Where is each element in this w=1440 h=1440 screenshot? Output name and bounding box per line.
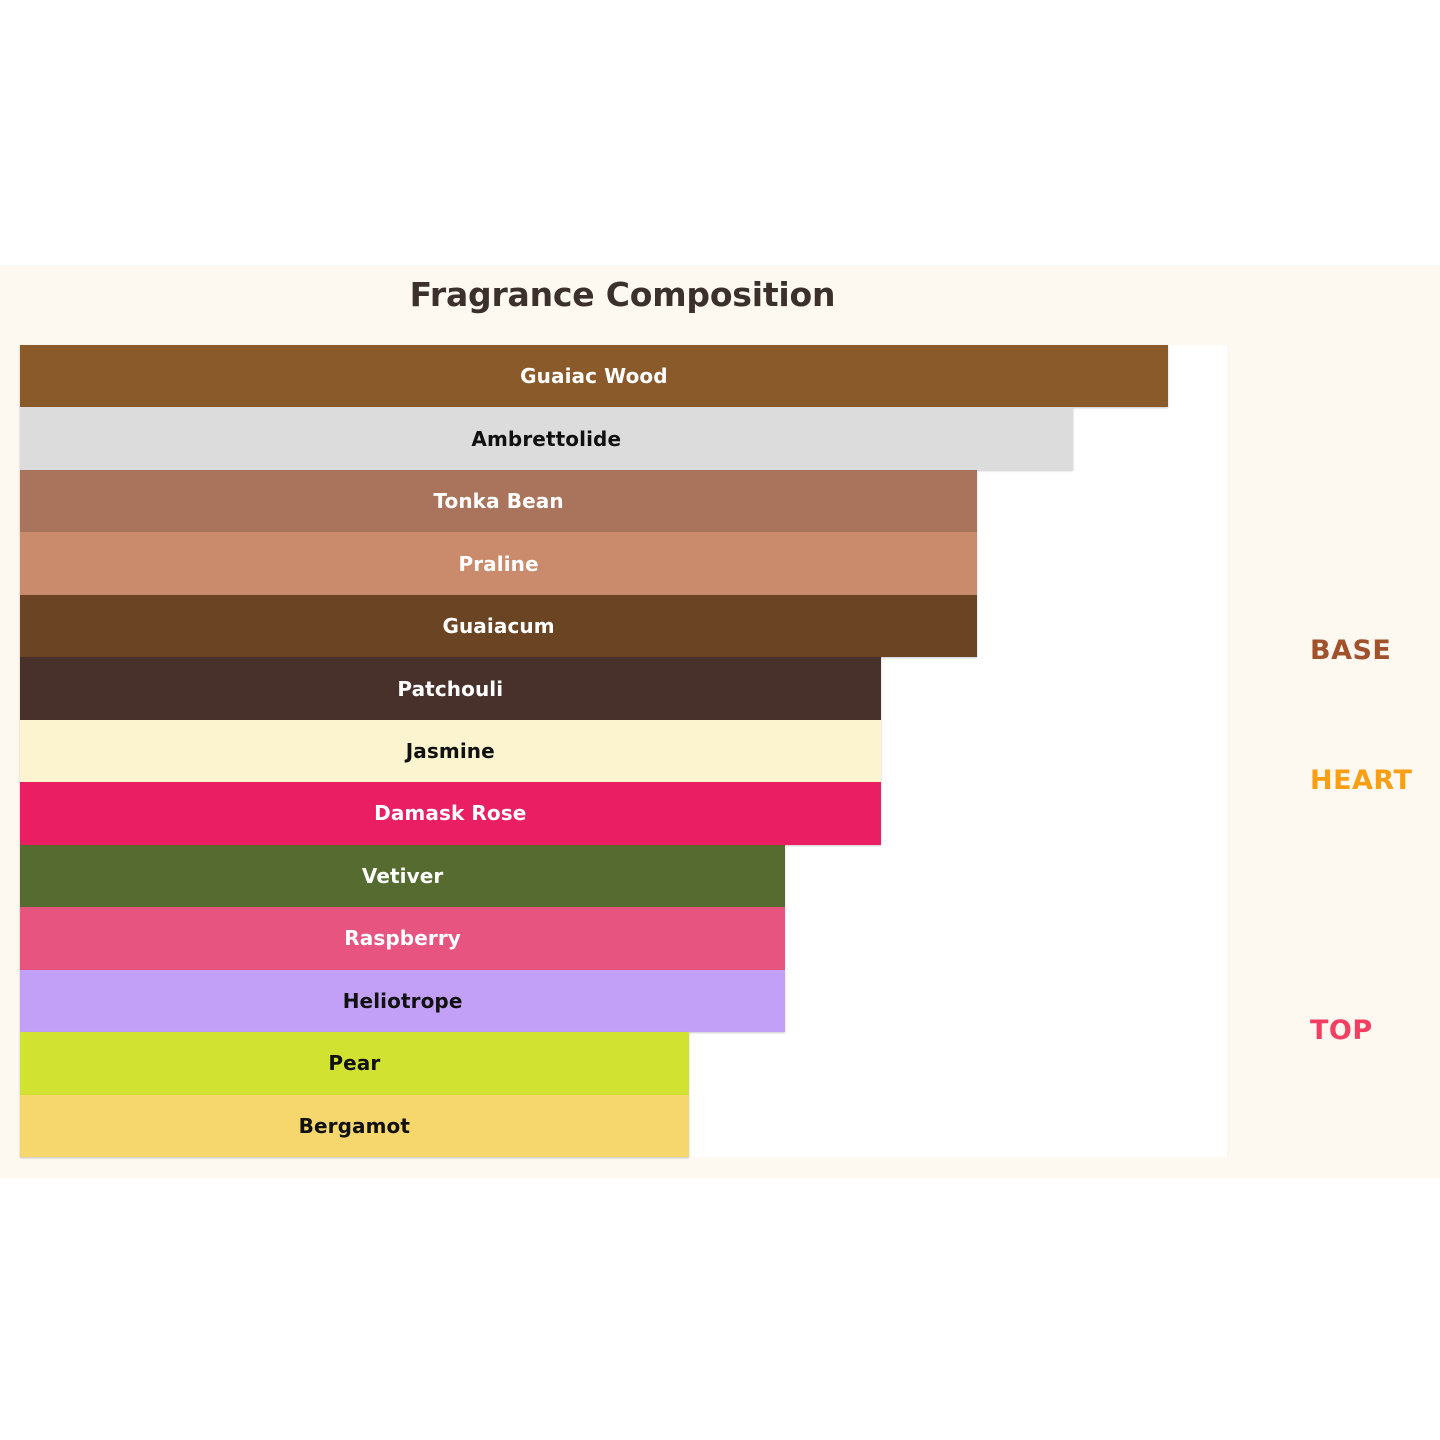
bar-row[interactable]: Tonka Bean bbox=[20, 470, 1227, 532]
bar-row[interactable]: Pear bbox=[20, 1032, 1227, 1094]
bar-heliotrope[interactable] bbox=[20, 970, 785, 1032]
bar-row[interactable]: Patchouli bbox=[20, 657, 1227, 719]
bar-damask-rose[interactable] bbox=[20, 782, 881, 844]
bar-row[interactable]: Guaiacum bbox=[20, 595, 1227, 657]
bar-ambrettolide[interactable] bbox=[20, 407, 1073, 469]
bar-row[interactable]: Vetiver bbox=[20, 845, 1227, 907]
bar-jasmine[interactable] bbox=[20, 720, 881, 782]
bar-praline[interactable] bbox=[20, 532, 977, 594]
stage-label-base: BASE bbox=[1310, 635, 1391, 666]
page-title: Fragrance Composition bbox=[0, 275, 1245, 314]
bar-row[interactable]: Raspberry bbox=[20, 907, 1227, 969]
chart-figure: Fragrance Composition Guaiac WoodAmbrett… bbox=[0, 265, 1440, 1178]
bar-row[interactable]: Praline bbox=[20, 532, 1227, 594]
stage-label-heart: HEART bbox=[1310, 765, 1412, 796]
bar-bergamot[interactable] bbox=[20, 1095, 689, 1157]
bar-vetiver[interactable] bbox=[20, 845, 785, 907]
bar-guaiac-wood[interactable] bbox=[20, 345, 1168, 407]
bar-row[interactable]: Guaiac Wood bbox=[20, 345, 1227, 407]
bar-raspberry[interactable] bbox=[20, 907, 785, 969]
bar-guaiacum[interactable] bbox=[20, 595, 977, 657]
bar-pear[interactable] bbox=[20, 1032, 689, 1094]
bar-tonka-bean[interactable] bbox=[20, 470, 977, 532]
bar-row[interactable]: Ambrettolide bbox=[20, 407, 1227, 469]
bar-row[interactable]: Heliotrope bbox=[20, 970, 1227, 1032]
bar-row[interactable]: Damask Rose bbox=[20, 782, 1227, 844]
stage-label-top: TOP bbox=[1310, 1015, 1373, 1046]
bar-patchouli[interactable] bbox=[20, 657, 881, 719]
bar-row[interactable]: Jasmine bbox=[20, 720, 1227, 782]
bar-row[interactable]: Bergamot bbox=[20, 1095, 1227, 1157]
plot-area: Guaiac WoodAmbrettolideTonka BeanPraline… bbox=[20, 345, 1227, 1157]
